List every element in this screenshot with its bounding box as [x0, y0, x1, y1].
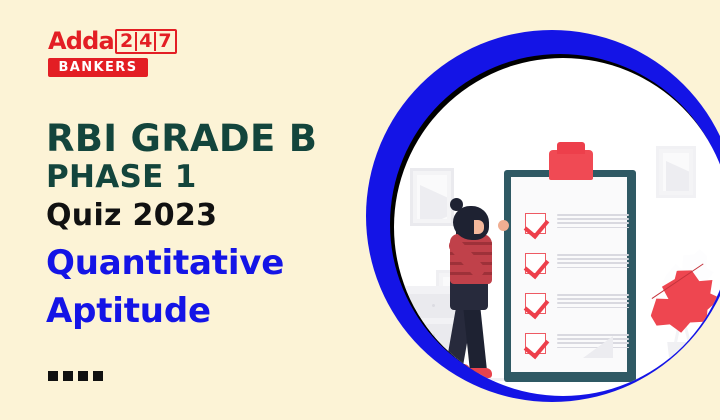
check-icon — [524, 333, 550, 359]
person-figure — [436, 196, 522, 392]
logo-247-box: 2 4 7 — [115, 29, 177, 54]
hand-icon — [498, 220, 509, 231]
plant-pot — [664, 342, 704, 382]
logo-digit-2: 2 — [118, 32, 135, 51]
square-dot — [93, 371, 103, 381]
subject-title-line2: Aptitude — [46, 291, 346, 331]
clipboard-scene — [394, 58, 720, 396]
clipboard-page — [511, 177, 627, 372]
wall-frame-right-icon — [656, 146, 696, 198]
headline-block: RBI GRADE B PHASE 1 Quiz 2023 Quantitati… — [46, 118, 346, 331]
logo-bankers-banner: BANKERS — [48, 58, 148, 77]
check-icon — [524, 293, 550, 319]
hair-bun-icon — [450, 198, 463, 211]
check-icon — [524, 253, 550, 279]
quiz-year-title: Quiz 2023 — [46, 197, 346, 235]
checkbox-3 — [525, 293, 546, 314]
checkbox-2 — [525, 253, 546, 274]
subject-title-line1: Quantitative — [46, 243, 346, 283]
logo-wordmark: Adda 2 4 7 — [48, 29, 168, 54]
checklist-row — [525, 333, 631, 355]
check-icon — [524, 213, 550, 239]
logo-digit-4: 4 — [135, 32, 154, 51]
potted-plant — [642, 246, 720, 382]
logo-bankers-label: BANKERS — [59, 60, 138, 75]
dresser-leg — [408, 384, 414, 394]
phase-title: PHASE 1 — [46, 159, 346, 195]
logo-word-adda: Adda — [48, 29, 114, 54]
text-lines — [557, 214, 629, 231]
checklist-row — [525, 213, 631, 235]
drawer-knob-icon — [432, 334, 435, 337]
checklist-row — [525, 293, 631, 315]
clipboard-clip — [549, 150, 593, 180]
checklist-row — [525, 253, 631, 275]
clipboard — [504, 170, 636, 382]
frame-triangle-icon — [666, 161, 689, 191]
text-lines — [557, 294, 629, 311]
square-dot — [48, 371, 58, 381]
decorative-squares — [48, 371, 103, 381]
drawer-knob-icon — [432, 364, 435, 367]
face — [474, 220, 484, 234]
illustration-area — [358, 0, 720, 420]
text-lines — [557, 334, 629, 351]
frame-art — [663, 153, 689, 191]
exam-title: RBI GRADE B — [46, 118, 346, 159]
logo-digit-7: 7 — [154, 32, 173, 51]
checkbox-4 — [525, 333, 546, 354]
square-dot — [63, 371, 73, 381]
shoe-front-icon — [466, 368, 492, 378]
checkbox-1 — [525, 213, 546, 234]
text-lines — [557, 254, 629, 271]
white-disc — [394, 58, 720, 396]
square-dot — [78, 371, 88, 381]
adda247-bankers-logo: Adda 2 4 7 BANKERS — [48, 29, 168, 77]
drawer-knob-icon — [432, 304, 435, 307]
promo-banner: Adda 2 4 7 BANKERS RBI GRADE B PHASE 1 Q… — [0, 0, 720, 420]
